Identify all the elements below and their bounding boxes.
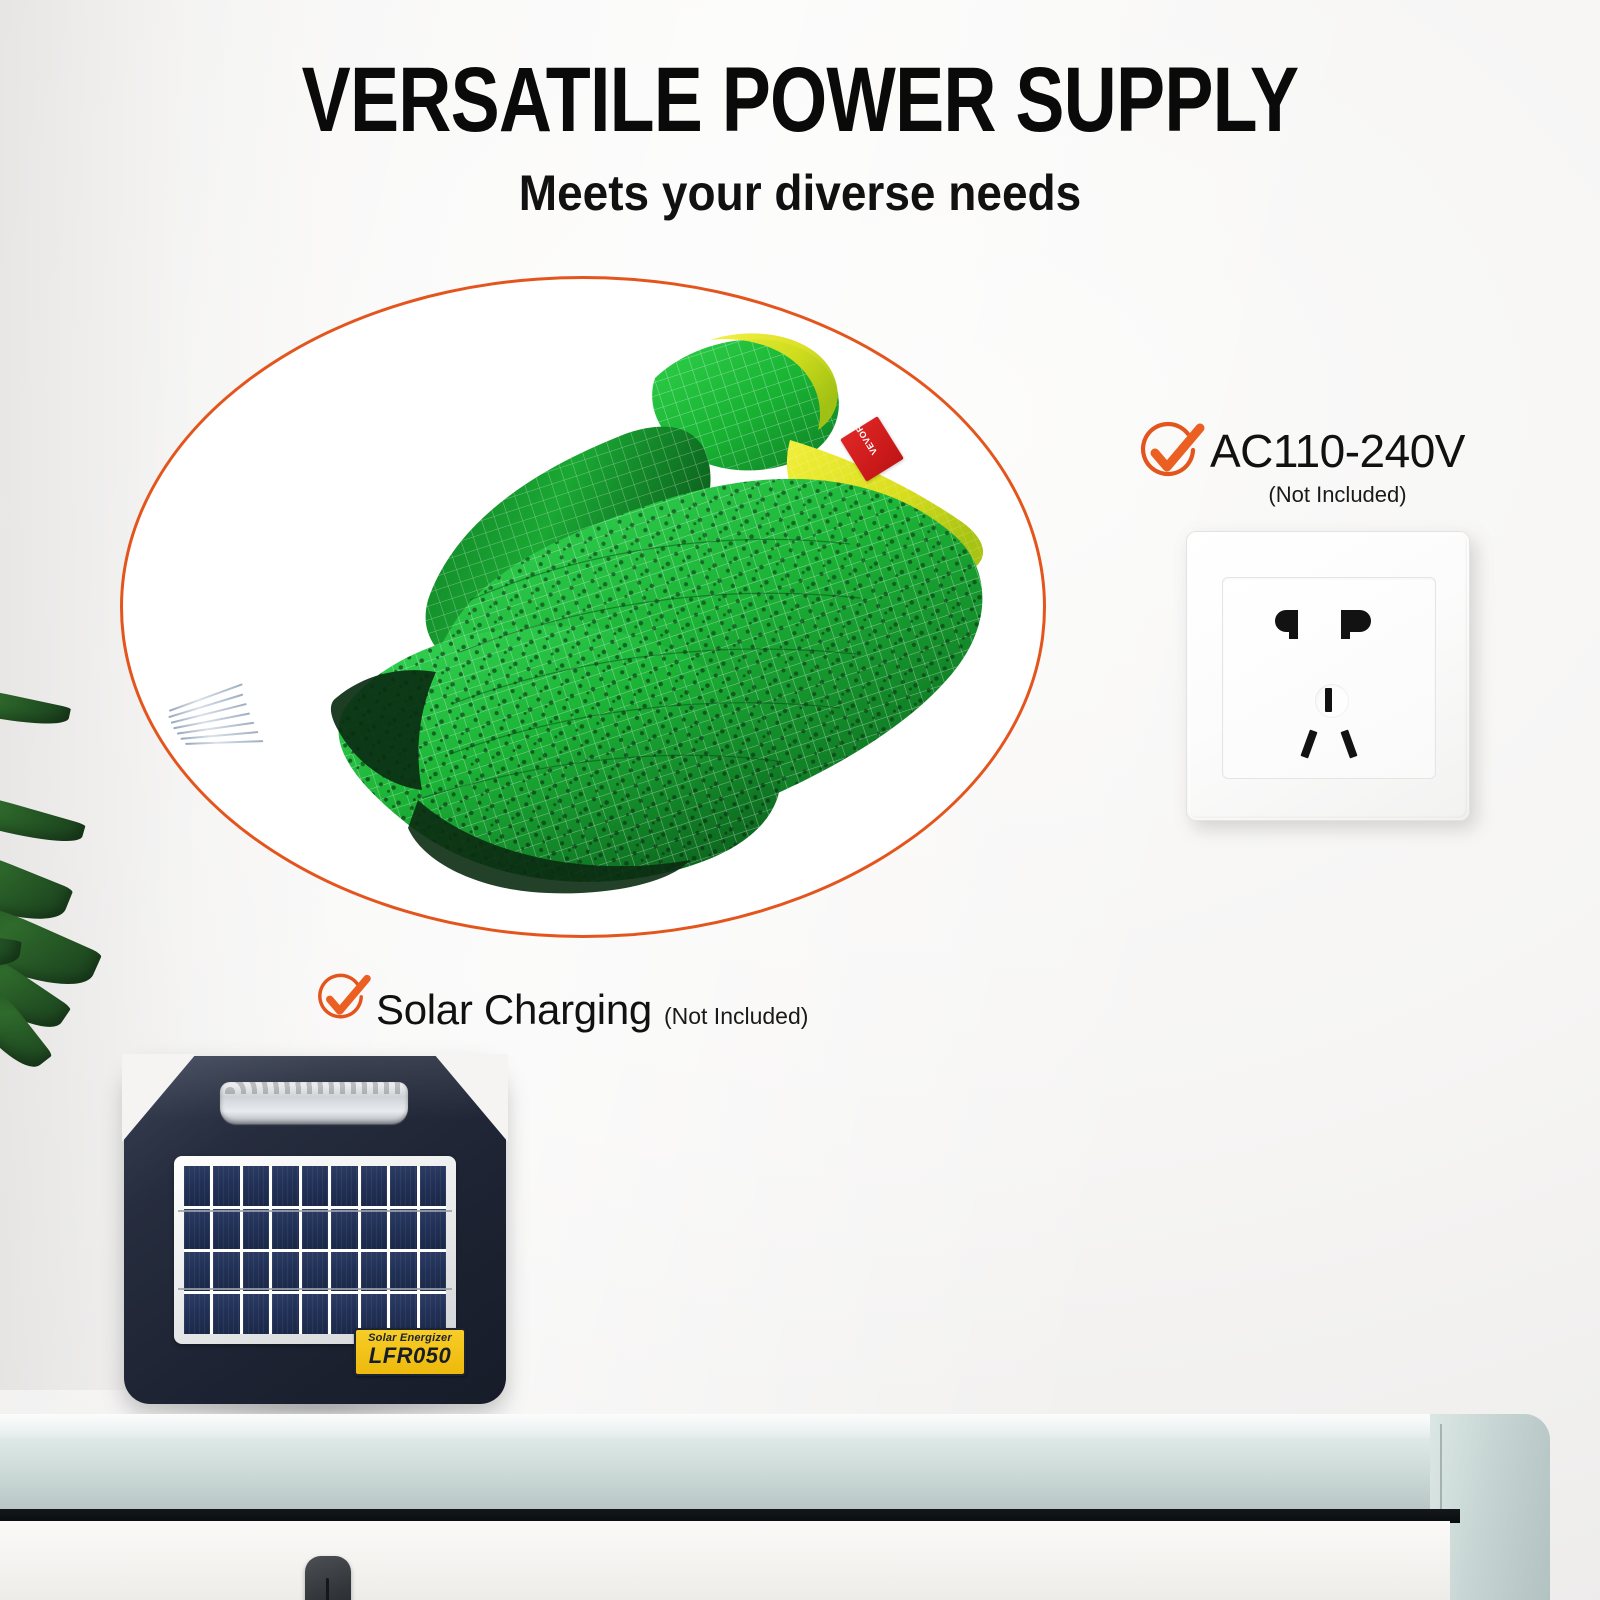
netting-illustration [150, 300, 1020, 910]
check-circle-glyph [314, 972, 372, 1030]
solar-panel-frame [174, 1156, 456, 1344]
solar-cell [361, 1252, 387, 1292]
wall-power-socket[interactable] [1186, 531, 1470, 821]
solar-cell [243, 1209, 269, 1249]
page-subtitle: Meets your diverse needs [64, 168, 1536, 218]
solar-cell [243, 1166, 269, 1206]
feature-ac-note: (Not Included) [1210, 482, 1465, 508]
feature-solar-charging: Solar Charging (Not Included) [318, 978, 808, 1031]
page-title: VERSATILE POWER SUPPLY [160, 54, 1440, 146]
solar-cell [420, 1166, 446, 1206]
product-marketing-banner: VERSATILE POWER SUPPLY Meets your divers… [0, 0, 1600, 1600]
energizer-badge-line2: LFR050 [356, 1345, 464, 1367]
solar-cell [213, 1166, 239, 1206]
feature-ac-text: AC110-240V (Not Included) [1210, 428, 1465, 508]
solar-cell [272, 1252, 298, 1292]
panel-busbar [178, 1288, 452, 1290]
solar-cell [331, 1209, 357, 1249]
solar-cell [184, 1294, 210, 1334]
drawer-handle[interactable] [305, 1556, 351, 1600]
feature-ac-label: AC110-240V [1210, 428, 1465, 474]
product-netting-image: VEVOR [150, 300, 1020, 910]
socket-slot-left [1275, 610, 1297, 632]
solar-cell [243, 1294, 269, 1334]
solar-cell [390, 1166, 416, 1206]
solar-energizer-unit[interactable]: Solar Energizer LFR050 [124, 1056, 506, 1404]
solar-cell [213, 1209, 239, 1249]
solar-cell [272, 1209, 298, 1249]
socket-recessed-panel [1222, 577, 1436, 779]
feature-ac-power: AC110-240V (Not Included) [1140, 428, 1465, 508]
table-seam [1440, 1424, 1442, 1520]
socket-earth-slot [1315, 684, 1349, 718]
plant-leaf [0, 776, 86, 853]
socket-angled-slot-left [1300, 729, 1317, 758]
solar-cell [302, 1209, 328, 1249]
socket-angled-slot-right [1340, 729, 1357, 758]
solar-cell [302, 1252, 328, 1292]
solar-panel-cells [184, 1166, 446, 1334]
check-circle-icon [318, 978, 364, 1024]
energizer-model-badge: Solar Energizer LFR050 [354, 1328, 466, 1376]
potted-plant [0, 700, 180, 1120]
feature-solar-label: Solar Charging [376, 989, 652, 1031]
drawer-front[interactable] [0, 1521, 1450, 1600]
panel-busbar [178, 1210, 452, 1212]
table-top [0, 1414, 1490, 1520]
solar-cell [361, 1166, 387, 1206]
solar-cell [302, 1166, 328, 1206]
solar-cell [420, 1252, 446, 1292]
check-circle-glyph [1136, 420, 1206, 490]
solar-cell [302, 1294, 328, 1334]
solar-cell [420, 1209, 446, 1249]
plant-leaf [0, 677, 71, 734]
feature-solar-note: (Not Included) [664, 1003, 808, 1030]
solar-cell [213, 1294, 239, 1334]
socket-slot-right [1349, 610, 1371, 632]
solar-cell [331, 1166, 357, 1206]
solar-cell [331, 1294, 357, 1334]
energizer-carry-handle[interactable] [220, 1082, 408, 1124]
solar-cell [184, 1166, 210, 1206]
solar-cell [184, 1209, 210, 1249]
solar-cell [272, 1294, 298, 1334]
solar-cell [243, 1252, 269, 1292]
solar-cell [213, 1252, 239, 1292]
solar-cell [390, 1252, 416, 1292]
solar-cell [390, 1209, 416, 1249]
solar-cell [184, 1252, 210, 1292]
solar-cell [331, 1252, 357, 1292]
solar-cell [272, 1166, 298, 1206]
check-circle-icon [1140, 428, 1196, 484]
solar-cell [361, 1209, 387, 1249]
